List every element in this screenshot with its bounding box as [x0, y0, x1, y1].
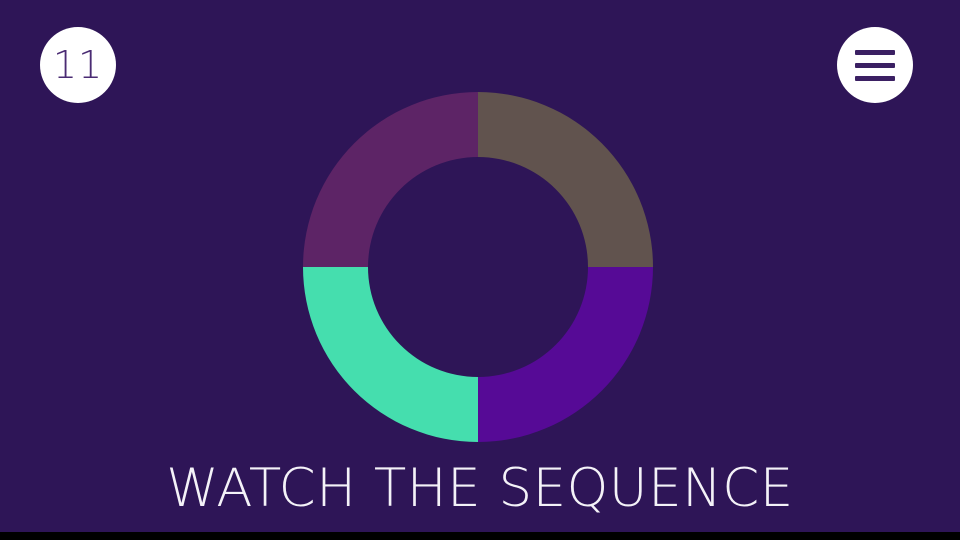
- donut-segment-top-left[interactable]: [303, 92, 478, 267]
- donut-segment-bottom-right[interactable]: [478, 267, 653, 442]
- menu-button[interactable]: [837, 27, 913, 103]
- score-badge[interactable]: 11: [40, 27, 116, 103]
- donut-segment-top-right[interactable]: [478, 92, 653, 267]
- hamburger-bar-2: [855, 63, 895, 68]
- game-screen: 11 WATCH THE SEQUENCE: [0, 0, 960, 540]
- hamburger-bar-1: [855, 50, 895, 55]
- prompt-text: WATCH THE SEQUENCE: [0, 455, 960, 523]
- hamburger-bar-3: [855, 76, 895, 81]
- donut-svg: [303, 92, 653, 442]
- sequence-donut: [303, 92, 653, 442]
- donut-segment-bottom-left[interactable]: [303, 267, 478, 442]
- hamburger-menu-icon: [855, 50, 895, 81]
- letterbox-bar-bottom: [0, 532, 960, 540]
- score-badge-value: 11: [53, 46, 103, 84]
